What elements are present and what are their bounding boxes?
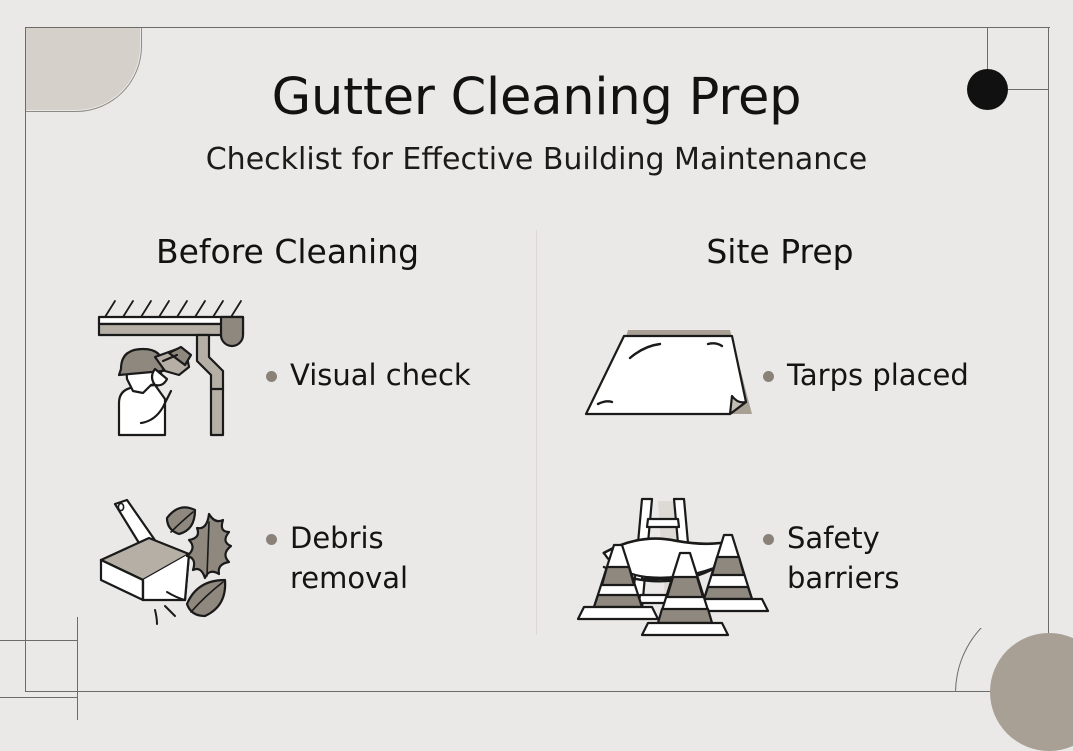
frame-border-top (25, 27, 1050, 28)
item-label: Safety barriers (787, 518, 977, 598)
cones-ladder-barrier-icon (585, 478, 755, 638)
item-label-group: Debris removal (266, 518, 480, 598)
list-item: Visual check (88, 295, 471, 455)
tarp-sheet-icon (585, 295, 755, 455)
item-label-group: Safety barriers (763, 518, 977, 598)
item-label: Visual check (290, 355, 471, 395)
page-title: Gutter Cleaning Prep (0, 68, 1073, 127)
page-subtitle: Checklist for Effective Building Mainten… (0, 142, 1073, 177)
bullet-dot-icon (763, 534, 774, 545)
list-item: Safety barriers (585, 478, 977, 638)
frame-border-bottom (25, 691, 1050, 692)
bottom-left-square-outline (0, 640, 78, 698)
item-label: Debris removal (290, 518, 480, 598)
bottom-left-vertical-line (77, 617, 78, 720)
bullet-dot-icon (266, 371, 277, 382)
item-label-group: Tarps placed (763, 355, 969, 395)
bullet-dot-icon (266, 534, 277, 545)
column-heading-before-cleaning: Before Cleaning (60, 232, 515, 271)
poster-canvas: Gutter Cleaning Prep Checklist for Effec… (0, 0, 1073, 720)
dustpan-leaves-icon (88, 478, 258, 638)
item-label: Tarps placed (787, 355, 969, 395)
column-divider (536, 230, 537, 635)
column-heading-site-prep: Site Prep (560, 232, 1000, 271)
bullet-dot-icon (763, 371, 774, 382)
item-label-group: Visual check (266, 355, 471, 395)
list-item: Tarps placed (585, 295, 969, 455)
gutter-inspection-binoculars-icon (88, 295, 258, 455)
list-item: Debris removal (88, 478, 480, 638)
